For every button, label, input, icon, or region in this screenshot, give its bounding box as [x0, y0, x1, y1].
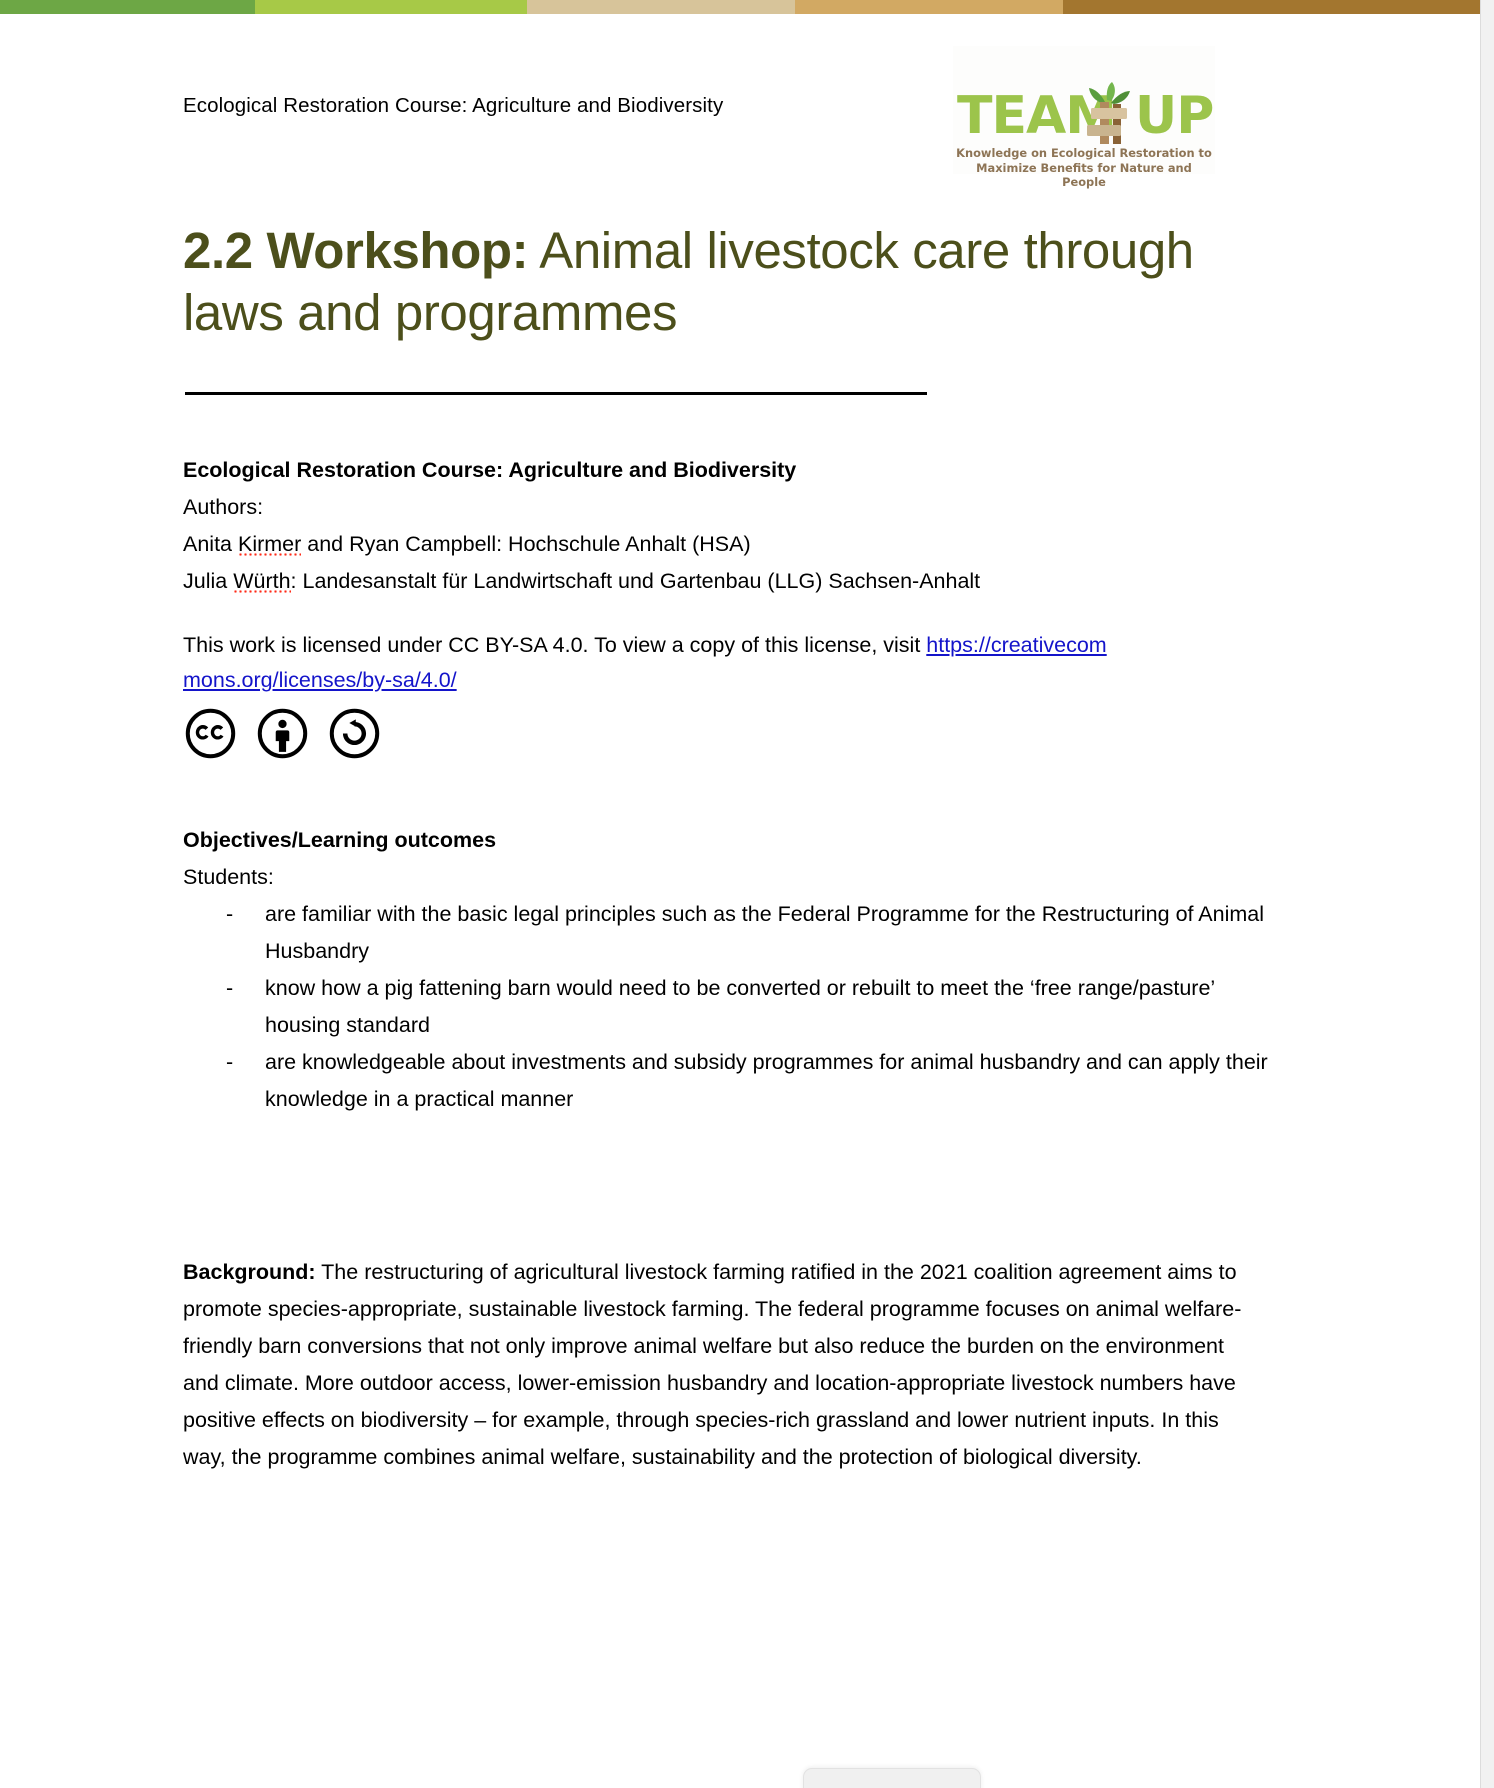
viewer-right-gutter: [1480, 0, 1494, 1788]
page-title-colon: :: [512, 222, 529, 279]
page-title: 2.2 Workshop: Animal livestock care thro…: [183, 220, 1243, 344]
document-page: Ecological Restoration Course: Agricultu…: [0, 0, 1480, 1788]
list-bullet-dash: -: [226, 970, 233, 1007]
background-label: Background:: [183, 1260, 316, 1284]
logo-word-up: UP: [1135, 90, 1225, 142]
list-bullet-dash: -: [226, 896, 233, 933]
top-color-band: [0, 0, 1480, 14]
list-item: - are familiar with the basic legal prin…: [183, 896, 1283, 970]
logo-tagline-line-1: Knowledge on Ecological Restoration to: [956, 146, 1212, 160]
objectives-intro: Students:: [183, 859, 1283, 896]
cc-by-attribution-icon[interactable]: [257, 708, 308, 759]
author-line-2: Julia Würth: Landesanstalt für Landwirts…: [183, 563, 1243, 600]
authors-label: Authors:: [183, 489, 1243, 526]
logo-word-team: TEAM: [957, 90, 1087, 142]
page-title-number: 2.2 Workshop: [183, 222, 512, 279]
cc-sa-share-alike-icon[interactable]: [329, 708, 380, 759]
band-green-light: [255, 0, 527, 14]
author-line-1-pre: Anita: [183, 532, 238, 556]
list-item: - know how a pig fattening barn would ne…: [183, 970, 1283, 1044]
logo-tagline: Knowledge on Ecological Restoration to M…: [955, 146, 1213, 190]
viewer-floating-toolbar[interactable]: [803, 1768, 981, 1788]
band-brown: [1063, 0, 1480, 14]
course-and-authors-block: Ecological Restoration Course: Agricultu…: [183, 452, 1243, 600]
background-text: The restructuring of agricultural livest…: [183, 1260, 1241, 1469]
list-item-text: are knowledgeable about investments and …: [265, 1050, 1268, 1111]
background-paragraph: Background: The restructuring of agricul…: [183, 1254, 1253, 1476]
logo-tagline-line-2: Maximize Benefits for Nature and People: [976, 161, 1192, 190]
team-up-logo: TEAM UP Knowledge on Ecological Re: [953, 46, 1215, 174]
license-statement: This work is licensed under CC BY-SA 4.0…: [183, 628, 1123, 698]
list-bullet-dash: -: [226, 1044, 233, 1081]
creative-commons-badges: [185, 708, 380, 759]
author-line-2-post: : Landesanstalt für Landwirtschaft und G…: [291, 569, 981, 593]
cc-logo-icon[interactable]: [185, 708, 236, 759]
course-heading: Ecological Restoration Course: Agricultu…: [183, 452, 1243, 489]
author-line-1-post: and Ryan Campbell: Hochschule Anhalt (HS…: [301, 532, 750, 556]
objectives-section: Objectives/Learning outcomes Students: -…: [183, 822, 1283, 1118]
author-line-2-pre: Julia: [183, 569, 233, 593]
objectives-list: - are familiar with the basic legal prin…: [183, 896, 1283, 1118]
list-item-text: know how a pig fattening barn would need…: [265, 976, 1214, 1037]
list-item-text: are familiar with the basic legal princi…: [265, 902, 1264, 963]
horizontal-rule: [185, 392, 927, 395]
signpost-with-leaves-icon: [1075, 82, 1139, 144]
band-green-dark: [0, 0, 255, 14]
document-header: Ecological Restoration Course: Agricultu…: [183, 86, 1283, 206]
author-line-1: Anita Kirmer and Ryan Campbell: Hochschu…: [183, 526, 1243, 563]
list-item: - are knowledgeable about investments an…: [183, 1044, 1283, 1118]
band-sand-light: [527, 0, 795, 14]
license-text: This work is licensed under CC BY-SA 4.0…: [183, 633, 926, 657]
author-line-1-misspelled-word: Kirmer: [238, 532, 301, 558]
header-course-line: Ecological Restoration Course: Agricultu…: [183, 94, 723, 118]
band-sand-dark: [795, 0, 1063, 14]
author-line-2-misspelled-word: Würth: [233, 569, 290, 595]
objectives-heading: Objectives/Learning outcomes: [183, 822, 1283, 859]
